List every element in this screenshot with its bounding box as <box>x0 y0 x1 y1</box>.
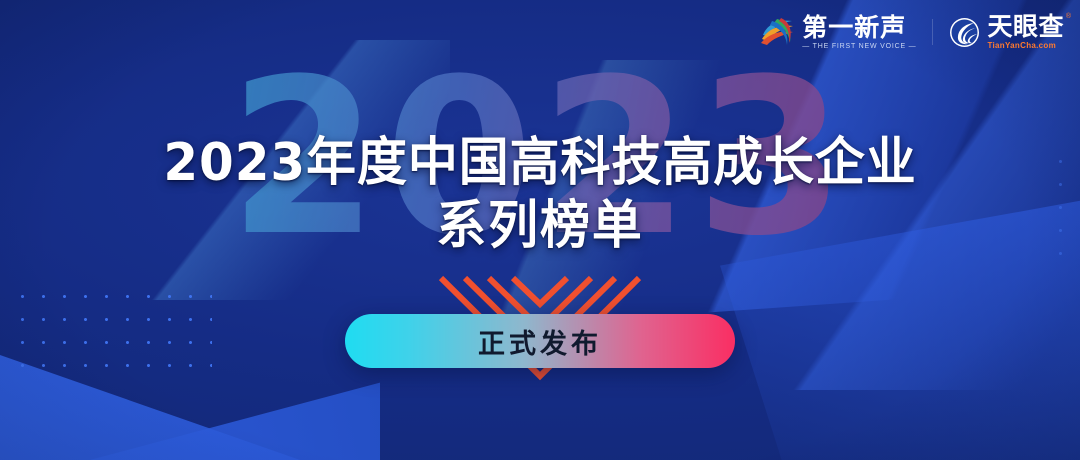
logo-tianyancha[interactable]: 天眼查 TianYanCha.com ® <box>949 14 1064 50</box>
page-title-line-2: 系列榜单 <box>22 195 1059 257</box>
eye-aperture-icon <box>949 17 980 48</box>
page-title: 2023年度中国高科技高成长企业 系列榜单 <box>0 133 1080 257</box>
logo-divider <box>932 19 933 45</box>
logo-tianyancha-domain: TianYanCha.com <box>987 42 1064 50</box>
logo-first-new-voice-name: 第一新声 <box>802 15 916 40</box>
logo-first-new-voice-text: 第一新声 — THE FIRST NEW VOICE — <box>802 15 916 50</box>
logo-first-new-voice[interactable]: 第一新声 — THE FIRST NEW VOICE — <box>759 15 916 50</box>
logo-first-new-voice-tagline: — THE FIRST NEW VOICE — <box>802 43 916 50</box>
swirl-ribbon-icon <box>759 15 795 49</box>
logo-tianyancha-text: 天眼查 TianYanCha.com ® <box>987 14 1064 50</box>
publish-status-label: 正式发布 <box>478 322 602 361</box>
logo-bar: 第一新声 — THE FIRST NEW VOICE — 天眼查 TianYan… <box>759 14 1064 50</box>
promo-banner: 2023 第一新声 — THE FIRST NEW VOICE — <box>0 0 1080 460</box>
logo-tianyancha-name: 天眼查 <box>987 14 1064 39</box>
publish-status-badge[interactable]: 正式发布 <box>345 314 735 368</box>
trademark-icon: ® <box>1066 13 1071 20</box>
page-title-line-1: 2023年度中国高科技高成长企业 <box>22 133 1059 193</box>
